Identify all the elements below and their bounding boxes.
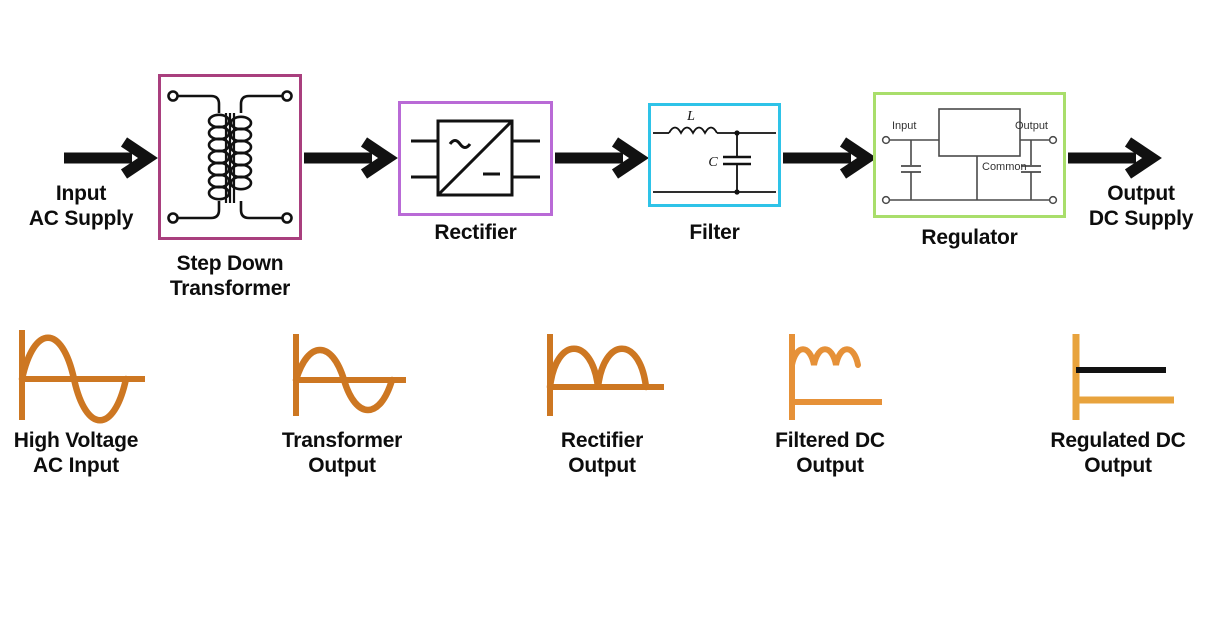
waveform-rectifier-output — [540, 330, 675, 420]
power-supply-block-diagram: L C — [0, 0, 1210, 642]
regulator-common-label: Common — [982, 161, 1027, 173]
waveform-high-voltage-ac-input — [10, 326, 160, 424]
block-rectifier — [398, 101, 553, 216]
capacitor-label: C — [708, 155, 718, 170]
label-input-ac-supply: Input AC Supply — [0, 182, 162, 232]
waveform-transformer-output — [286, 330, 421, 420]
arrow-regulator-to-output — [1066, 138, 1162, 178]
block-filter: L C — [648, 103, 781, 207]
arrow-transformer-to-rectifier — [302, 138, 398, 178]
arrow-rectifier-to-filter — [553, 138, 649, 178]
regulator-input-label: Input — [892, 120, 916, 132]
label-regulated-dc-output: Regulated DC Output — [1028, 428, 1208, 478]
inductor-label: L — [686, 109, 695, 124]
regulator-output-label: Output — [1015, 120, 1048, 132]
label-step-down-transformer: Step Down Transformer — [140, 252, 320, 302]
label-rectifier-output: Rectifier Output — [512, 428, 692, 478]
arrow-input-to-transformer — [62, 138, 158, 178]
label-high-voltage-ac-input: High Voltage AC Input — [0, 428, 152, 478]
arrow-filter-to-regulator — [781, 138, 877, 178]
transformer-symbol — [161, 77, 299, 237]
lc-filter-symbol: L C — [651, 106, 778, 204]
waveform-regulated-dc-output — [1064, 330, 1199, 425]
label-output-dc-supply: Output DC Supply — [1072, 182, 1210, 232]
block-step-down-transformer — [158, 74, 302, 240]
block-regulator: Input Output Common — [873, 92, 1066, 218]
label-regulator: Regulator — [873, 226, 1066, 251]
label-transformer-output: Transformer Output — [252, 428, 432, 478]
voltage-regulator-symbol: Input Output Common — [876, 95, 1063, 215]
waveform-filtered-dc-output — [782, 330, 917, 425]
label-rectifier: Rectifier — [398, 221, 553, 246]
label-filtered-dc-output: Filtered DC Output — [740, 428, 920, 478]
rectifier-symbol — [401, 104, 550, 213]
label-filter: Filter — [648, 221, 781, 246]
